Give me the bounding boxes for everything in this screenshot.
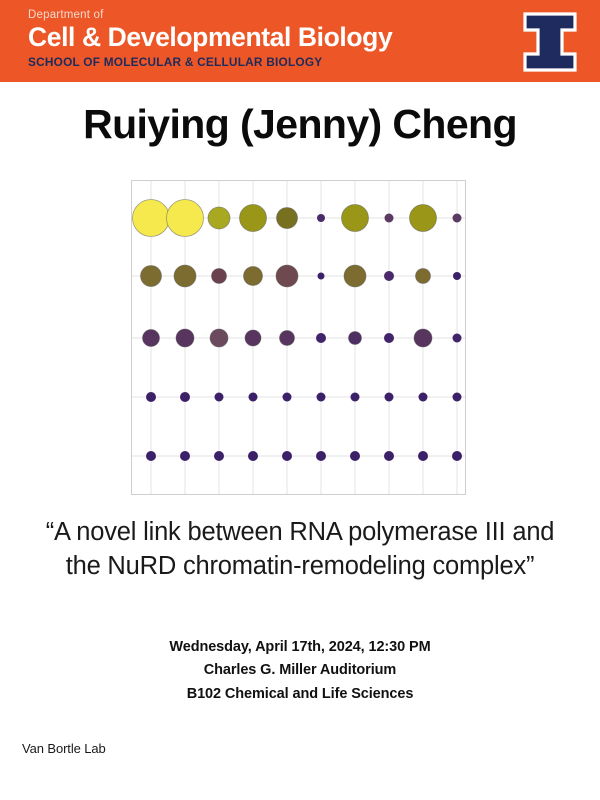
dot-r2-c0 — [143, 330, 160, 347]
dot-r1-c3 — [244, 267, 263, 286]
dot-r3-c7 — [385, 393, 394, 402]
dot-r0-c4 — [277, 208, 298, 229]
dot-r4-c8 — [418, 451, 428, 461]
dot-r1-c1 — [174, 265, 196, 287]
dot-r4-c2 — [214, 451, 224, 461]
dot-r2-c1 — [176, 329, 194, 347]
dot-r1-c2 — [212, 269, 227, 284]
dot-r2-c9 — [453, 334, 462, 343]
illinois-block-i-logo — [521, 11, 579, 73]
event-venue: Charles G. Miller Auditorium — [50, 659, 550, 682]
dot-r0-c1 — [167, 200, 204, 237]
lab-footer: Van Bortle Lab — [22, 741, 106, 756]
dot-r2-c4 — [280, 331, 295, 346]
dot-r2-c3 — [245, 330, 261, 346]
dot-r3-c1 — [180, 392, 190, 402]
header-banner: Department of Cell & Developmental Biolo… — [0, 0, 600, 82]
dot-r1-c7 — [384, 271, 394, 281]
department-branding: Department of Cell & Developmental Biolo… — [28, 9, 488, 69]
dot-r4-c4 — [282, 451, 292, 461]
dot-r1-c5 — [318, 273, 325, 280]
dot-r4-c5 — [316, 451, 326, 461]
dot-r2-c5 — [316, 333, 326, 343]
dot-r4-c3 — [248, 451, 258, 461]
dot-r0-c0 — [133, 200, 170, 237]
dot-r2-c2 — [210, 329, 228, 347]
event-datetime: Wednesday, April 17th, 2024, 12:30 PM — [50, 636, 550, 659]
dot-r1-c9 — [453, 272, 461, 280]
seminar-title: “A novel link between RNA polymerase III… — [28, 516, 572, 584]
dot-r1-c6 — [344, 265, 366, 287]
school-subtitle: SCHOOL OF MOLECULAR & CELLULAR BIOLOGY — [28, 56, 488, 70]
dot-r0-c6 — [342, 205, 369, 232]
dot-r0-c9 — [453, 214, 462, 223]
dot-r0-c3 — [240, 205, 267, 232]
dot-r3-c5 — [317, 393, 326, 402]
department-eyebrow: Department of — [28, 9, 488, 22]
dot-r3-c2 — [215, 393, 224, 402]
event-details: Wednesday, April 17th, 2024, 12:30 PM Ch… — [50, 636, 550, 706]
dot-r0-c2 — [208, 207, 230, 229]
dot-r3-c0 — [146, 392, 156, 402]
dot-r0-c5 — [317, 214, 325, 222]
dot-r1-c4 — [276, 265, 298, 287]
dot-r3-c3 — [249, 393, 258, 402]
dot-r2-c6 — [349, 332, 362, 345]
dot-plot-figure — [131, 180, 466, 495]
dot-r3-c9 — [453, 393, 462, 402]
speaker-name: Ruiying (Jenny) Cheng — [0, 103, 600, 146]
dot-r2-c7 — [384, 333, 394, 343]
dot-r1-c0 — [141, 266, 162, 287]
dot-r3-c8 — [419, 393, 428, 402]
dot-series — [133, 200, 463, 462]
dot-r4-c7 — [384, 451, 394, 461]
dot-r3-c4 — [283, 393, 292, 402]
department-title: Cell & Developmental Biology — [28, 23, 488, 53]
dot-r4-c0 — [146, 451, 156, 461]
dot-r4-c9 — [452, 451, 462, 461]
event-building: B102 Chemical and Life Sciences — [50, 683, 550, 706]
dot-r3-c6 — [351, 393, 360, 402]
dot-plot-svg — [132, 181, 465, 494]
dot-r0-c8 — [410, 205, 437, 232]
dot-r2-c8 — [414, 329, 432, 347]
dot-r4-c1 — [180, 451, 190, 461]
dot-r0-c7 — [385, 214, 394, 223]
dot-r4-c6 — [350, 451, 360, 461]
dot-r1-c8 — [416, 269, 431, 284]
